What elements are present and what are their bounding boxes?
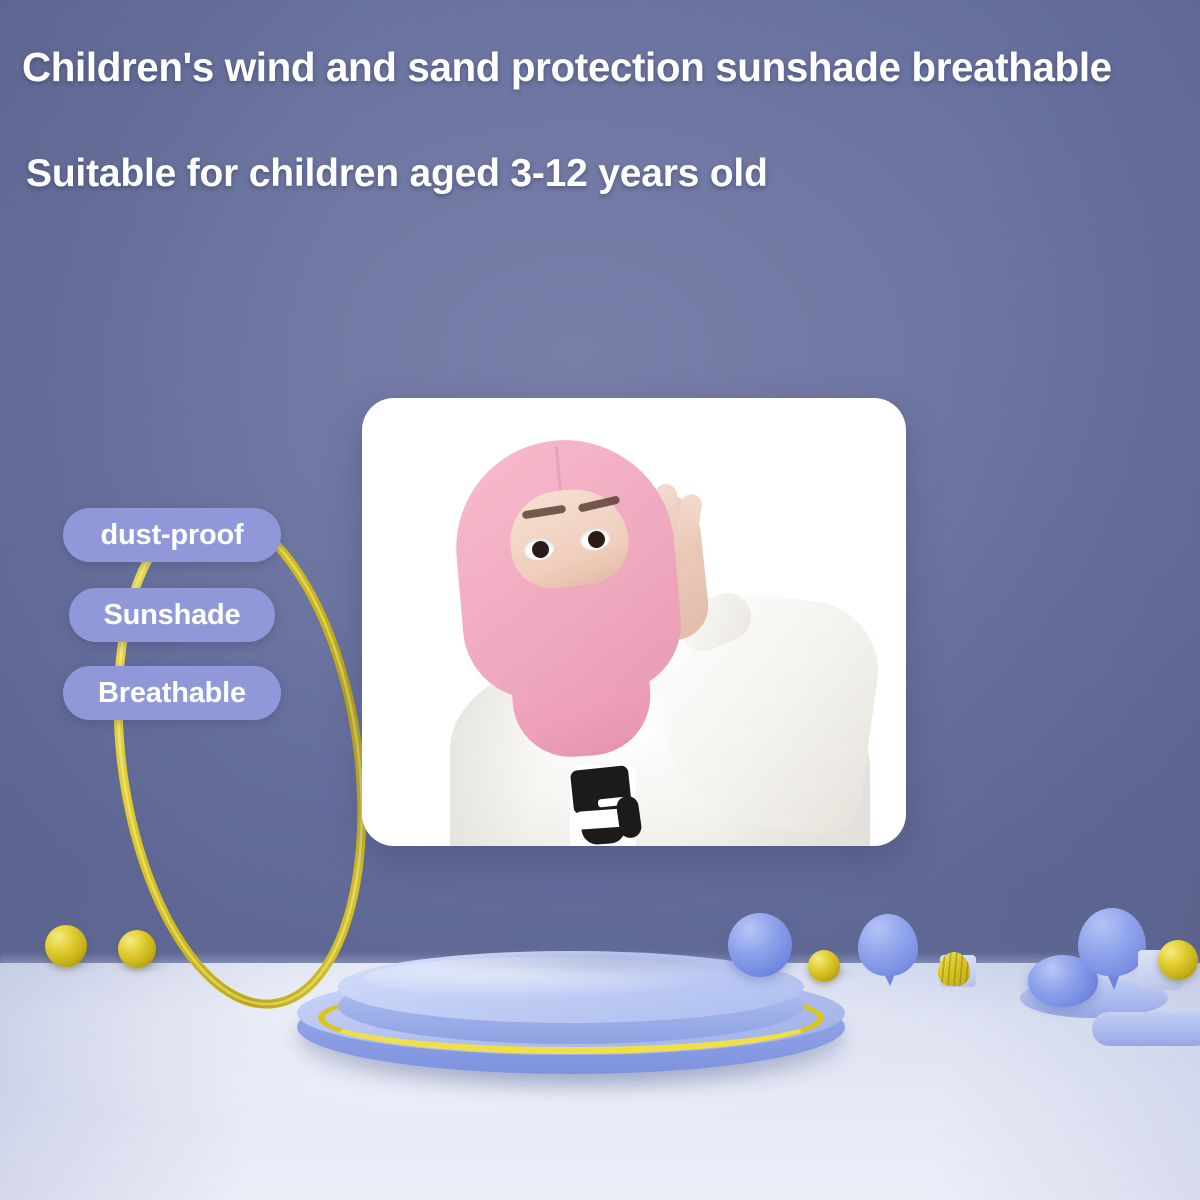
page-title: Children's wind and sand protection suns…	[22, 44, 1194, 91]
page-subtitle: Suitable for children aged 3-12 years ol…	[26, 152, 768, 196]
child-pupil	[588, 531, 605, 548]
feature-pill-dust-proof[interactable]: dust-proof	[63, 508, 281, 562]
product-photo-card[interactable]	[362, 398, 906, 846]
gold-sphere-prop	[1158, 940, 1198, 980]
feature-pill-sunshade[interactable]: Sunshade	[69, 588, 275, 642]
gold-sphere-prop	[118, 930, 156, 968]
product-banner: Children's wind and sand protection suns…	[0, 0, 1200, 1200]
feature-pill-breathable[interactable]: Breathable	[63, 666, 281, 720]
product-photo-image	[362, 398, 906, 846]
gold-shell-ridges	[938, 952, 970, 986]
blue-sphere-prop	[728, 913, 792, 977]
child-pupil	[532, 541, 549, 558]
blue-balloon-prop	[858, 914, 918, 976]
blue-bar-prop	[1092, 1012, 1200, 1046]
gold-sphere-prop	[45, 925, 87, 967]
gold-sphere-prop	[808, 950, 840, 982]
blue-balloon-prop	[1078, 908, 1146, 976]
